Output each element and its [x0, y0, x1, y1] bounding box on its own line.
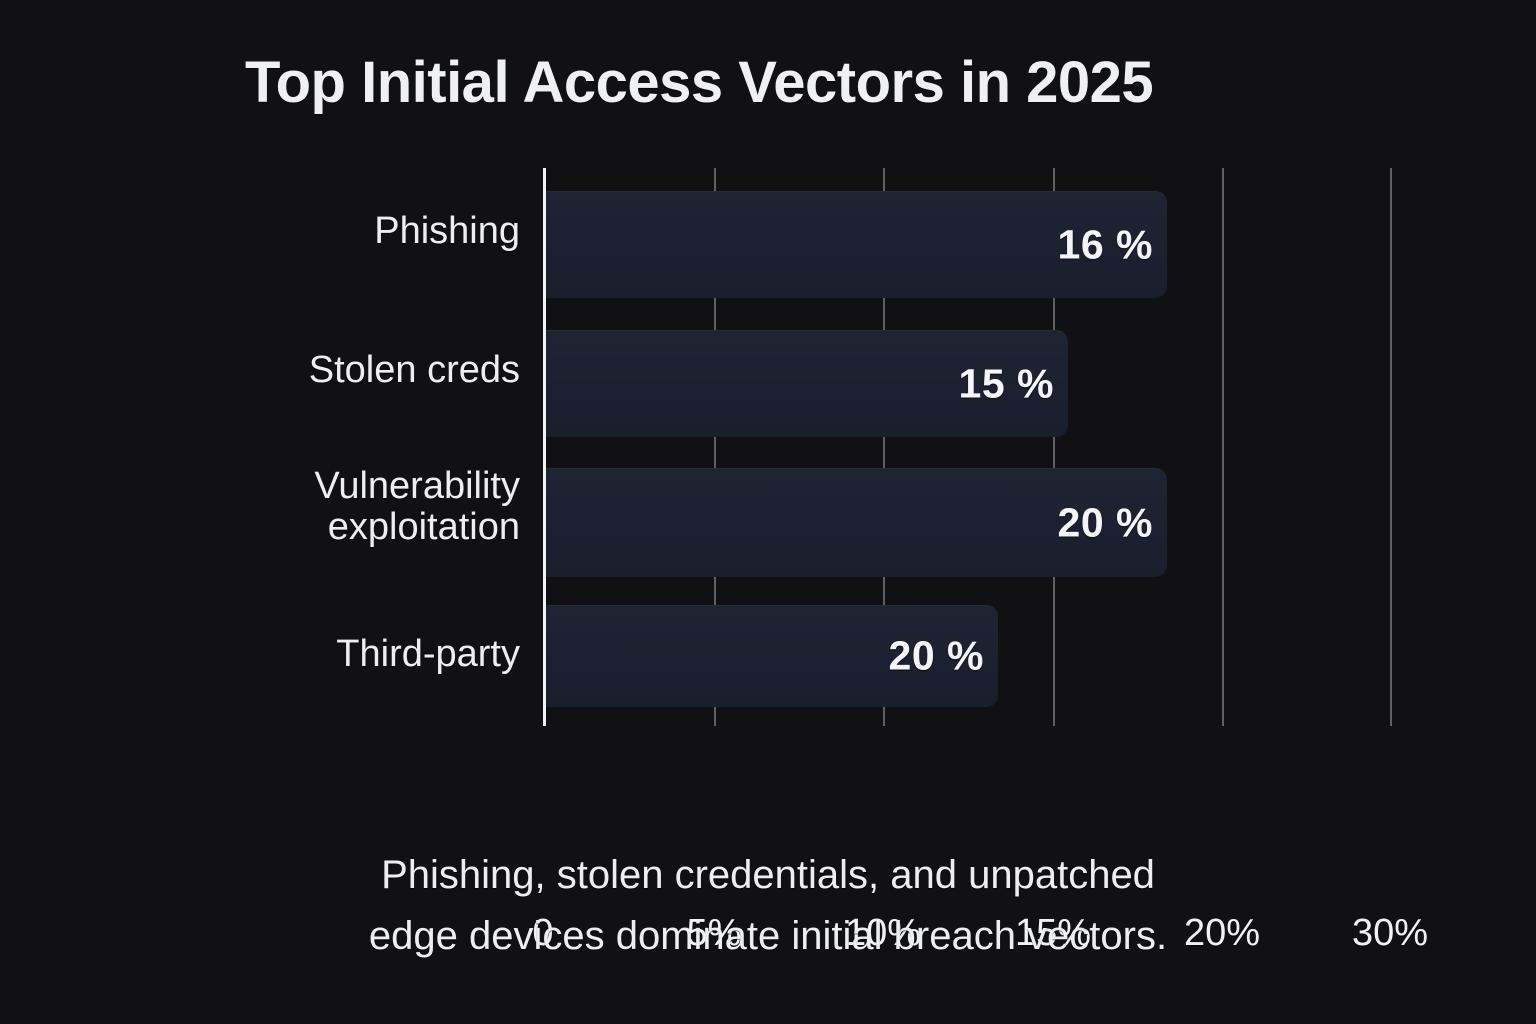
bar-row-stolen-creds[interactable]: 15 %	[543, 330, 1068, 437]
gridline-20	[1222, 168, 1224, 726]
chart-figure: Top Initial Access Vectors in 2025 Phish…	[0, 0, 1536, 1024]
gridline-30	[1390, 168, 1392, 726]
bar-value-vulnerability-exploitation: 20 %	[1058, 499, 1153, 546]
bar-row-phishing[interactable]: 16 %	[543, 191, 1167, 298]
bar-value-phishing: 16 %	[1058, 221, 1153, 268]
bar-row-vulnerability-exploitation[interactable]: 20 %	[543, 468, 1167, 577]
bar-row-third-party[interactable]: 20 %	[543, 605, 998, 707]
category-label-vulnerability-exploitation: Vulnerability exploitation	[314, 466, 520, 549]
category-label-stolen-creds: Stolen creds	[309, 350, 520, 391]
chart-title: Top Initial Access Vectors in 2025	[245, 52, 1345, 115]
bar-value-stolen-creds: 15 %	[959, 360, 1054, 407]
plot-area: 16 % 15 % 20 % 20 % 0 5% 10% 15% 20% 30%	[543, 168, 1392, 726]
category-label-third-party: Third-party	[336, 634, 520, 675]
gridline-0	[543, 168, 546, 726]
chart-subtitle: Phishing, stolen credentials, and unpatc…	[0, 845, 1536, 967]
category-label-phishing: Phishing	[374, 211, 520, 252]
bar-value-third-party: 20 %	[889, 633, 984, 680]
